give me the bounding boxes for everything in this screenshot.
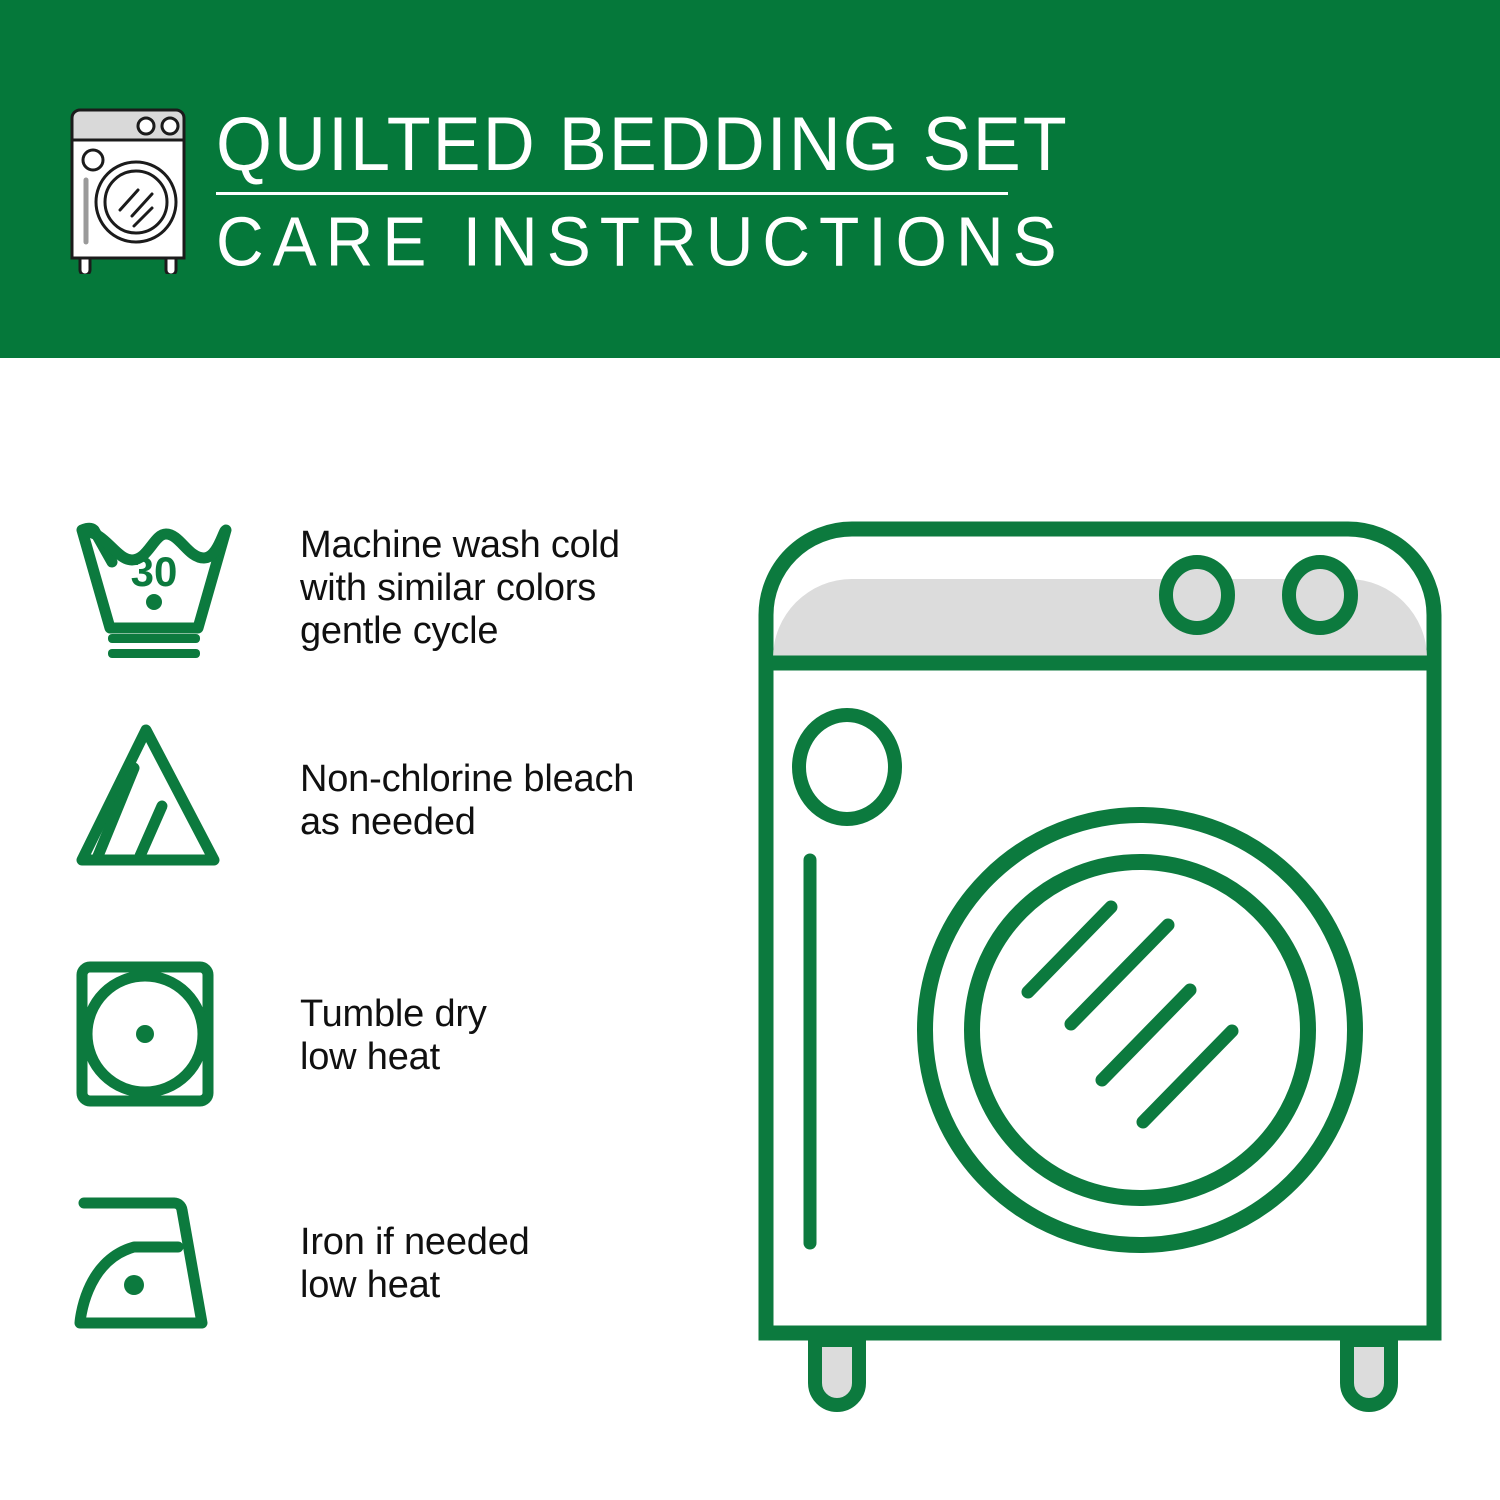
washer-leg-right — [1347, 1340, 1391, 1405]
care-label-bleach: Non-chlorine bleach as needed — [300, 758, 634, 844]
care-label-iron: Iron if needed low heat — [300, 1221, 530, 1307]
tumble-dry-low-icon — [70, 955, 240, 1115]
washing-machine-illustration — [740, 495, 1460, 1425]
page-subtitle: CARE INSTRUCTIONS — [216, 201, 1016, 282]
care-row-tumble-dry: Tumble dry low heat — [70, 955, 730, 1135]
care-row-machine-wash: 30 Machine wash cold with similar colors… — [70, 500, 730, 680]
title-divider — [216, 192, 1008, 195]
care-instructions-page: QUILTED BEDDING SET CARE INSTRUCTIONS 30… — [0, 0, 1500, 1500]
non-chlorine-bleach-triangle-icon — [70, 718, 240, 878]
header-band: QUILTED BEDDING SET CARE INSTRUCTIONS — [0, 0, 1500, 358]
wash-temperature-label: 30 — [131, 548, 178, 595]
washer-leg-left — [815, 1340, 859, 1405]
wash-tub-30-icon: 30 — [70, 500, 240, 660]
page-title: QUILTED BEDDING SET — [216, 100, 1016, 189]
care-row-iron: Iron if needed low heat — [70, 1185, 730, 1365]
care-label-machine-wash: Machine wash cold with similar colors ge… — [300, 524, 620, 653]
care-row-bleach: Non-chlorine bleach as needed — [70, 718, 730, 898]
care-label-tumble-dry: Tumble dry low heat — [300, 993, 487, 1079]
header-title-block: QUILTED BEDDING SET CARE INSTRUCTIONS — [216, 100, 1016, 277]
detergent-dispenser-icon — [799, 715, 895, 819]
washing-machine-icon — [58, 102, 206, 274]
door-inner-ring — [972, 862, 1308, 1198]
knob-left-icon[interactable] — [1166, 562, 1228, 628]
iron-low-heat-icon — [70, 1185, 240, 1345]
knob-right-icon[interactable] — [1289, 562, 1351, 628]
